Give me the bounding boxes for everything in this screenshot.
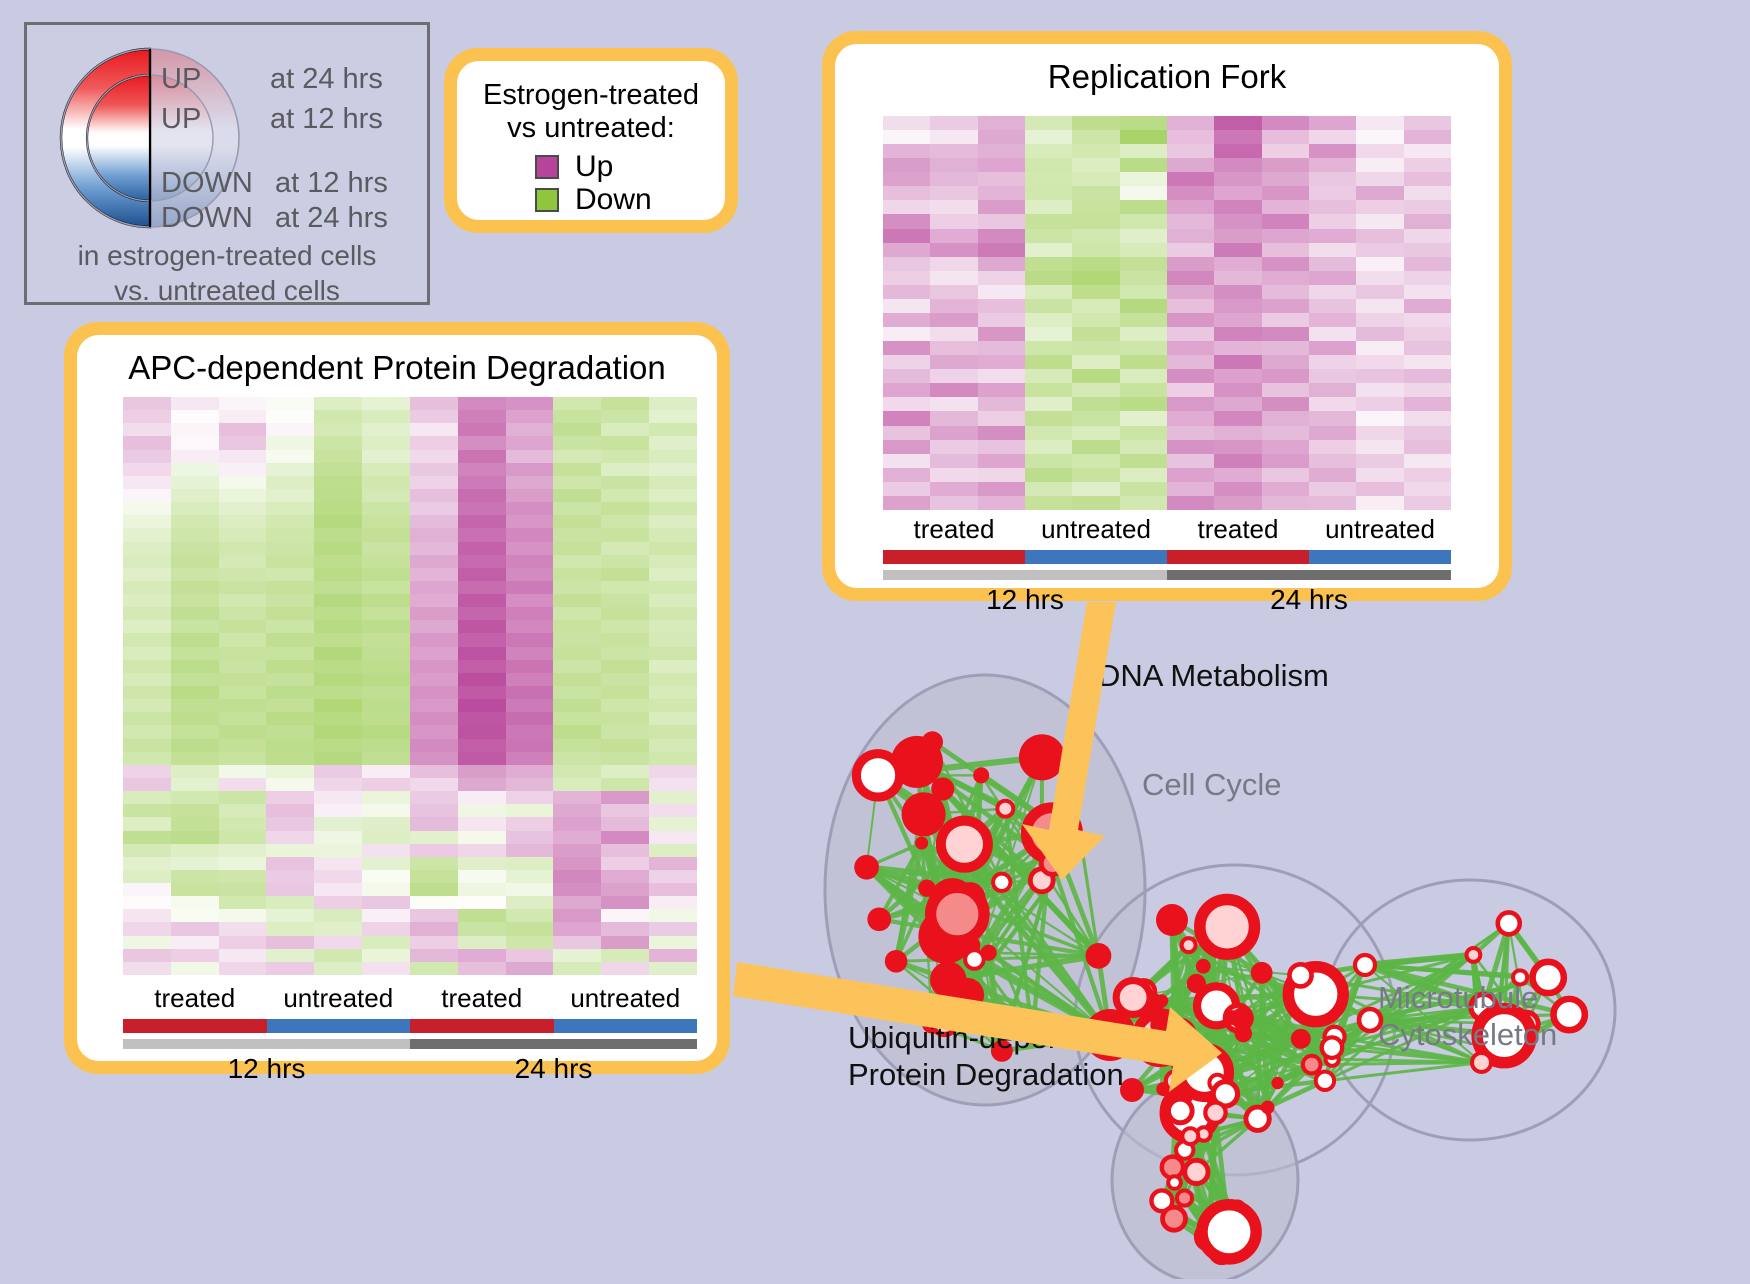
heatmap-cell — [314, 686, 362, 699]
heatmap-cell — [362, 476, 410, 489]
heatmap-cell — [1120, 397, 1167, 411]
heatmap-cell — [649, 765, 697, 778]
heatmap-cell — [458, 673, 506, 686]
heatmap-cell — [1262, 397, 1309, 411]
heatmap-cell — [978, 271, 1025, 285]
heatmap-cell — [649, 712, 697, 725]
heatmap-cell — [553, 817, 601, 830]
heatmap-cell — [1025, 496, 1072, 510]
heatmap-cell — [219, 542, 267, 555]
heatmap-cell — [266, 633, 314, 646]
network-node — [1168, 1176, 1181, 1189]
heatmap-cell — [362, 962, 410, 975]
heatmap-cell — [458, 568, 506, 581]
heatmap-cell — [1167, 158, 1214, 172]
heatmap-cell — [410, 436, 458, 449]
heatmap-cell — [1025, 172, 1072, 186]
heatmap-cell — [649, 542, 697, 555]
heatmap-cell — [266, 463, 314, 476]
heatmap-cell — [171, 660, 219, 673]
heatmap-cell — [314, 739, 362, 752]
heatmap-cell — [410, 633, 458, 646]
condition-label: treated — [410, 983, 554, 1014]
heatmap-cell — [1214, 426, 1261, 440]
heatmap-cell — [1025, 299, 1072, 313]
heatmap-cell — [266, 909, 314, 922]
heatmap-cell — [410, 883, 458, 896]
heatmap-cell — [123, 817, 171, 830]
heatmap-cell — [930, 468, 977, 482]
heatmap-cell — [410, 397, 458, 410]
heatmap-cell — [314, 712, 362, 725]
heatmap-cell — [1120, 116, 1167, 130]
heatmap-cell — [1167, 285, 1214, 299]
heatmap-cell — [458, 502, 506, 515]
heatmap-cell — [883, 229, 930, 243]
heatmap-cell — [883, 214, 930, 228]
heatmap-cell — [458, 765, 506, 778]
heatmap-cell — [553, 936, 601, 949]
heatmap-cell — [883, 369, 930, 383]
heatmap-cell — [1072, 454, 1119, 468]
heatmap-cell — [314, 765, 362, 778]
heatmap-cell — [171, 686, 219, 699]
legend-label-up: Up — [575, 152, 613, 182]
heatmap-cell — [458, 844, 506, 857]
heatmap-cell — [1167, 116, 1214, 130]
heatmap-cell — [123, 620, 171, 633]
heatmap-cell — [219, 870, 267, 883]
heatmap-cell — [930, 482, 977, 496]
heatmap-cell — [1309, 482, 1356, 496]
heatmap-cell — [123, 633, 171, 646]
heatmap-cell — [410, 922, 458, 935]
heatmap-cell — [410, 817, 458, 830]
heatmap-cell — [123, 502, 171, 515]
heatmap-cell — [1072, 426, 1119, 440]
heatmap-cell — [1214, 200, 1261, 214]
heatmap-cell — [171, 397, 219, 410]
heatmap-cell — [219, 791, 267, 804]
heatmap-cell — [458, 909, 506, 922]
heatmap-cell — [1356, 327, 1403, 341]
heatmap-cell — [930, 411, 977, 425]
heatmap-cell — [553, 555, 601, 568]
heatmap-cell — [1120, 299, 1167, 313]
heatmap-cell — [930, 243, 977, 257]
heatmap-cell — [553, 673, 601, 686]
heatmap-cell — [1309, 383, 1356, 397]
heatmap-cell — [1404, 271, 1451, 285]
heatmap-cell — [123, 515, 171, 528]
heatmap-cell — [1404, 468, 1451, 482]
heatmap-cell — [123, 870, 171, 883]
heatmap-cell — [883, 285, 930, 299]
heatmap-cell — [458, 581, 506, 594]
heatmap-cell — [978, 482, 1025, 496]
heatmap-cell — [506, 804, 554, 817]
heatmap-cell — [314, 620, 362, 633]
heatmap-cell — [506, 909, 554, 922]
heatmap-cell — [1072, 383, 1119, 397]
heatmap-cell — [553, 686, 601, 699]
heatmap-cell — [410, 712, 458, 725]
heatmap-cell — [649, 686, 697, 699]
network-node — [915, 836, 928, 849]
heatmap-cell — [219, 660, 267, 673]
heatmap-cell — [553, 699, 601, 712]
heatmap-cell — [1025, 440, 1072, 454]
condition-label: treated — [123, 983, 267, 1014]
heatmap-cell — [219, 949, 267, 962]
heatmap-cell — [883, 482, 930, 496]
heatmap-cell — [314, 725, 362, 738]
heatmap-cell — [1309, 116, 1356, 130]
heatmap-cell — [1262, 426, 1309, 440]
heatmap-cell — [601, 555, 649, 568]
network-node — [1182, 1128, 1198, 1144]
heatmap-cell — [171, 739, 219, 752]
heatmap-cell — [1356, 383, 1403, 397]
heatmap-cell — [458, 450, 506, 463]
heatmap-cell — [506, 607, 554, 620]
heatmap-cell — [553, 804, 601, 817]
heatmap-cell — [649, 699, 697, 712]
heatmap-cell — [362, 883, 410, 896]
network-node — [1472, 1053, 1491, 1072]
heatmap-cell — [458, 883, 506, 896]
heatmap-cell — [553, 502, 601, 515]
heatmap-cell — [362, 450, 410, 463]
heatmap-cell — [649, 817, 697, 830]
heatmap-cell — [601, 607, 649, 620]
heatmap-cell — [123, 489, 171, 502]
heatmap-cell — [649, 647, 697, 660]
heatmap-cell — [1167, 341, 1214, 355]
heatmap-cell — [601, 568, 649, 581]
network-node — [997, 801, 1013, 817]
heatmap-cell — [553, 844, 601, 857]
heatmap-cell — [649, 410, 697, 423]
heatmap-cell — [553, 739, 601, 752]
heatmap-cell — [266, 581, 314, 594]
heatmap-cell — [1072, 214, 1119, 228]
heatmap-cell — [553, 949, 601, 962]
heatmap-cell — [171, 870, 219, 883]
heatmap-cell — [410, 528, 458, 541]
heatmap-cell — [601, 594, 649, 607]
network-node — [1322, 1037, 1343, 1058]
heatmap-cell — [601, 673, 649, 686]
heatmap-cell — [314, 909, 362, 922]
network-graph — [780, 620, 1750, 1279]
heatmap-cell — [553, 765, 601, 778]
heatmap-cell — [266, 778, 314, 791]
heatmap-cell — [410, 647, 458, 660]
legend-heading: Estrogen-treated vs untreated: — [457, 79, 725, 145]
heatmap-cell — [410, 594, 458, 607]
heatmap-cell — [506, 791, 554, 804]
heatmap-cell — [123, 673, 171, 686]
heatmap-cell — [123, 397, 171, 410]
heatmap-cell — [930, 454, 977, 468]
heatmap-cell — [123, 450, 171, 463]
heatmap-cell — [649, 791, 697, 804]
heatmap-cell — [1167, 257, 1214, 271]
heatmap-cell — [219, 568, 267, 581]
heatmap-cell — [1214, 172, 1261, 186]
heatmap-cell — [930, 172, 977, 186]
heatmap-cell — [978, 327, 1025, 341]
apc-dependent-condition-labels: treated untreated treated untreated — [123, 983, 697, 1014]
heatmap-cell — [123, 528, 171, 541]
heatmap-cell — [458, 739, 506, 752]
heatmap-cell — [266, 528, 314, 541]
heatmap-cell — [1167, 482, 1214, 496]
key-time-up-24: at 24 hrs — [270, 63, 383, 96]
heatmap-cell — [410, 778, 458, 791]
heatmap-cell — [1214, 144, 1261, 158]
heatmap-cell — [410, 489, 458, 502]
heatmap-cell — [649, 936, 697, 949]
heatmap-cell — [410, 765, 458, 778]
network-node — [1019, 734, 1065, 780]
heatmap-cell — [410, 410, 458, 423]
heatmap-cell — [171, 410, 219, 423]
heatmap-cell — [123, 962, 171, 975]
heatmap-cell — [978, 496, 1025, 510]
heatmap-cell — [1356, 243, 1403, 257]
heatmap-cell — [171, 817, 219, 830]
heatmap-cell — [506, 463, 554, 476]
heatmap-cell — [601, 528, 649, 541]
heatmap-cell — [601, 450, 649, 463]
heatmap-cell — [1309, 426, 1356, 440]
apc-dependent-panel: APC-dependent Protein Degradation treate… — [64, 322, 730, 1074]
heatmap-cell — [1120, 426, 1167, 440]
heatmap-cell — [1167, 172, 1214, 186]
heatmap-cell — [362, 410, 410, 423]
heatmap-cell — [1262, 214, 1309, 228]
heatmap-cell — [314, 660, 362, 673]
heatmap-cell — [171, 581, 219, 594]
heatmap-cell — [649, 436, 697, 449]
heatmap-cell — [553, 647, 601, 660]
heatmap-cell — [1262, 116, 1309, 130]
heatmap-cell — [458, 936, 506, 949]
heatmap-cell — [123, 555, 171, 568]
heatmap-cell — [649, 844, 697, 857]
heatmap-cell — [1120, 341, 1167, 355]
heatmap-cell — [1025, 383, 1072, 397]
heatmap-cell — [219, 489, 267, 502]
heatmap-cell — [1214, 186, 1261, 200]
heatmap-cell — [362, 555, 410, 568]
bar-treated-24 — [410, 1019, 554, 1033]
heatmap-cell — [506, 423, 554, 436]
heatmap-cell — [978, 200, 1025, 214]
heatmap-cell — [553, 607, 601, 620]
heatmap-cell — [883, 440, 930, 454]
network-node — [1251, 962, 1273, 984]
key-word-up-24: UP — [161, 63, 201, 96]
heatmap-cell — [266, 844, 314, 857]
heatmap-cell — [266, 791, 314, 804]
heatmap-cell — [1167, 313, 1214, 327]
heatmap-cell — [1404, 158, 1451, 172]
heatmap-cell — [171, 502, 219, 515]
heatmap-cell — [171, 673, 219, 686]
apc-dependent-heatmap — [123, 397, 697, 975]
heatmap-cell — [362, 581, 410, 594]
network-node — [856, 754, 899, 797]
heatmap-cell — [123, 883, 171, 896]
heatmap-cell — [1309, 411, 1356, 425]
heatmap-cell — [1404, 299, 1451, 313]
color-key-footer-line1: in estrogen-treated cells — [27, 239, 427, 274]
heatmap-cell — [1262, 411, 1309, 425]
heatmap-cell — [362, 633, 410, 646]
heatmap-cell — [458, 962, 506, 975]
legend-heading-line2: vs untreated: — [457, 112, 725, 145]
heatmap-cell — [601, 791, 649, 804]
heatmap-cell — [1120, 200, 1167, 214]
heatmap-cell — [506, 633, 554, 646]
heatmap-cell — [1025, 313, 1072, 327]
heatmap-cell — [978, 158, 1025, 172]
heatmap-cell — [1072, 496, 1119, 510]
heatmap-cell — [458, 778, 506, 791]
heatmap-cell — [1262, 257, 1309, 271]
bar-untreated-24 — [554, 1019, 698, 1033]
heatmap-cell — [171, 515, 219, 528]
heatmap-cell — [458, 949, 506, 962]
heatmap-cell — [410, 936, 458, 949]
heatmap-cell — [410, 502, 458, 515]
heatmap-cell — [1025, 200, 1072, 214]
heatmap-cell — [506, 739, 554, 752]
heatmap-cell — [266, 870, 314, 883]
heatmap-cell — [219, 844, 267, 857]
heatmap-cell — [1262, 229, 1309, 243]
heatmap-cell — [410, 909, 458, 922]
heatmap-cell — [362, 528, 410, 541]
heatmap-cell — [506, 936, 554, 949]
heatmap-cell — [171, 647, 219, 660]
heatmap-cell — [1072, 200, 1119, 214]
heatmap-cell — [171, 831, 219, 844]
heatmap-cell — [1072, 172, 1119, 186]
heatmap-cell — [458, 699, 506, 712]
heatmap-cell — [1404, 369, 1451, 383]
heatmap-cell — [171, 699, 219, 712]
heatmap-cell — [930, 214, 977, 228]
heatmap-cell — [219, 699, 267, 712]
heatmap-cell — [1309, 496, 1356, 510]
heatmap-cell — [314, 542, 362, 555]
heatmap-cell — [123, 712, 171, 725]
heatmap-cell — [1214, 257, 1261, 271]
heatmap-cell — [219, 817, 267, 830]
heatmap-cell — [649, 883, 697, 896]
heatmap-cell — [458, 660, 506, 673]
heatmap-cell — [1356, 468, 1403, 482]
heatmap-cell — [1025, 411, 1072, 425]
heatmap-cell — [553, 922, 601, 935]
heatmap-cell — [601, 423, 649, 436]
heatmap-cell — [978, 257, 1025, 271]
network-node — [1498, 912, 1520, 934]
heatmap-cell — [1072, 158, 1119, 172]
heatmap-cell — [362, 607, 410, 620]
network-node — [1554, 999, 1585, 1030]
heatmap-cell — [314, 883, 362, 896]
heatmap-cell — [458, 463, 506, 476]
bar-treated-12 — [123, 1019, 267, 1033]
heatmap-cell — [649, 397, 697, 410]
heatmap-cell — [601, 831, 649, 844]
heatmap-cell — [266, 752, 314, 765]
heatmap-cell — [978, 397, 1025, 411]
network-node — [1289, 964, 1311, 986]
heatmap-cell — [1356, 186, 1403, 200]
heatmap-cell — [506, 778, 554, 791]
heatmap-cell — [1214, 285, 1261, 299]
heatmap-cell — [1309, 327, 1356, 341]
heatmap-cell — [601, 857, 649, 870]
heatmap-cell — [410, 791, 458, 804]
heatmap-cell — [1404, 130, 1451, 144]
heatmap-cell — [1404, 144, 1451, 158]
heatmap-cell — [219, 752, 267, 765]
heatmap-cell — [362, 831, 410, 844]
heatmap-cell — [171, 450, 219, 463]
heatmap-cell — [930, 144, 977, 158]
apc-dependent-time-labels: 12 hrs 24 hrs — [123, 1053, 697, 1085]
replication-fork-time-bar — [883, 570, 1451, 580]
heatmap-cell — [1309, 144, 1356, 158]
network-node — [941, 821, 988, 868]
heatmap-cell — [362, 804, 410, 817]
heatmap-cell — [1167, 327, 1214, 341]
heatmap-cell — [123, 844, 171, 857]
heatmap-cell — [601, 660, 649, 673]
heatmap-cell — [1025, 144, 1072, 158]
heatmap-cell — [1356, 285, 1403, 299]
heatmap-cell — [171, 909, 219, 922]
heatmap-cell — [553, 660, 601, 673]
heatmap-cell — [930, 327, 977, 341]
heatmap-cell — [362, 765, 410, 778]
heatmap-cell — [1120, 144, 1167, 158]
heatmap-cell — [219, 673, 267, 686]
color-key-footer: in estrogen-treated cells vs. untreated … — [27, 239, 427, 308]
heatmap-cell — [930, 440, 977, 454]
heatmap-cell — [1214, 243, 1261, 257]
heatmap-cell — [553, 620, 601, 633]
network-node — [1316, 1072, 1334, 1090]
network-node — [922, 731, 943, 752]
heatmap-cell — [553, 476, 601, 489]
heatmap-cell — [314, 962, 362, 975]
bar-time-12 — [123, 1039, 410, 1049]
heatmap-cell — [649, 515, 697, 528]
heatmap-cell — [883, 397, 930, 411]
heatmap-cell — [123, 686, 171, 699]
heatmap-cell — [978, 426, 1025, 440]
heatmap-cell — [410, 699, 458, 712]
heatmap-cell — [219, 463, 267, 476]
